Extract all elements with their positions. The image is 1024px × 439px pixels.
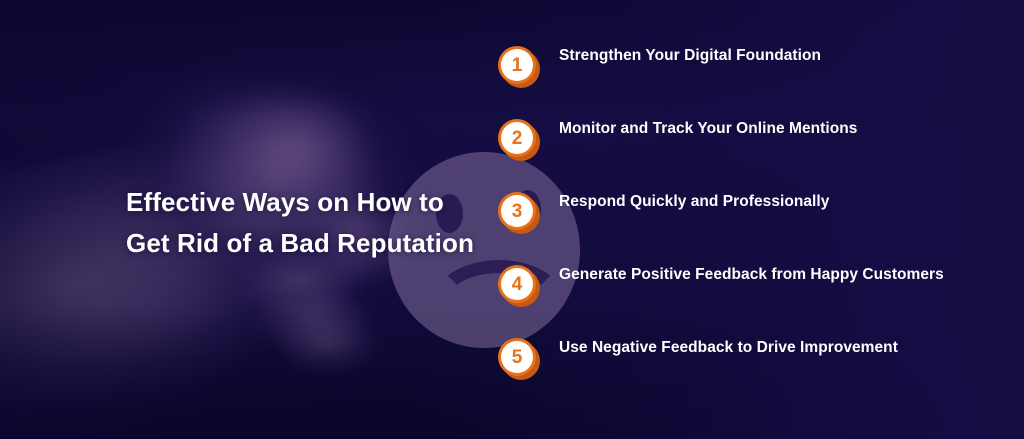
step-number-badge: 5 — [498, 338, 540, 380]
list-item: 3 Respond Quickly and Professionally — [498, 188, 968, 261]
badge-number: 1 — [501, 49, 533, 81]
step-label: Strengthen Your Digital Foundation — [559, 42, 959, 70]
badge-number: 2 — [501, 122, 533, 154]
badge-number: 4 — [501, 268, 533, 300]
step-label: Generate Positive Feedback from Happy Cu… — [559, 261, 959, 289]
list-item: 5 Use Negative Feedback to Drive Improve… — [498, 334, 968, 407]
step-number-badge: 3 — [498, 192, 540, 234]
step-number-badge: 1 — [498, 46, 540, 88]
page-title-line-1: Effective Ways on How to — [126, 182, 486, 223]
list-item: 2 Monitor and Track Your Online Mentions — [498, 115, 968, 188]
steps-list: 1 Strengthen Your Digital Foundation 2 M… — [498, 42, 968, 407]
list-item: 1 Strengthen Your Digital Foundation — [498, 42, 968, 115]
page-title: Effective Ways on How to Get Rid of a Ba… — [126, 182, 486, 264]
step-number-badge: 2 — [498, 119, 540, 161]
page-title-line-2: Get Rid of a Bad Reputation — [126, 223, 486, 264]
step-label: Respond Quickly and Professionally — [559, 188, 959, 216]
step-label: Monitor and Track Your Online Mentions — [559, 115, 959, 143]
badge-number: 3 — [501, 195, 533, 227]
badge-number: 5 — [501, 341, 533, 373]
step-label: Use Negative Feedback to Drive Improveme… — [559, 334, 959, 362]
list-item: 4 Generate Positive Feedback from Happy … — [498, 261, 968, 334]
infographic-banner: Effective Ways on How to Get Rid of a Ba… — [0, 0, 1024, 439]
step-number-badge: 4 — [498, 265, 540, 307]
